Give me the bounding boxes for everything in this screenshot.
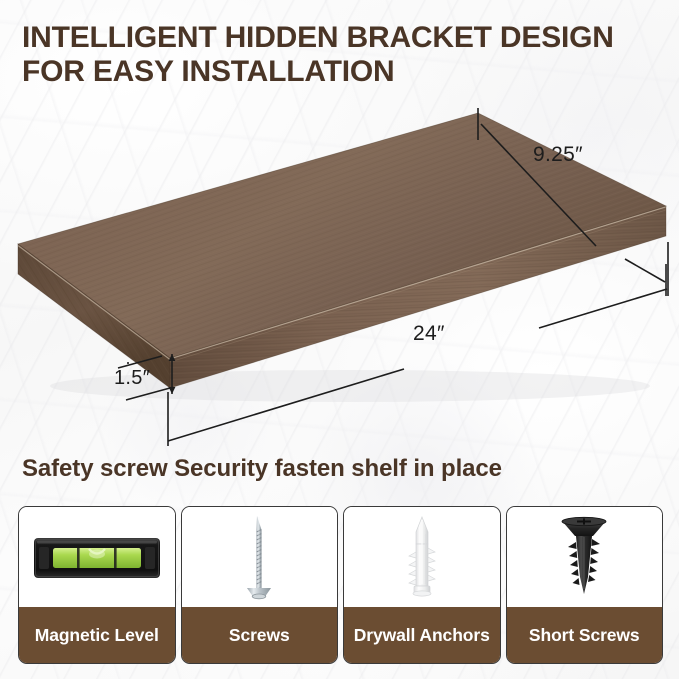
- product-infographic: INTELLIGENT HIDDEN BRACKET DESIGN FOR EA…: [0, 0, 679, 679]
- subheading-text: Safety screw Security fasten shelf in pl…: [22, 455, 672, 483]
- hardware-card-screws[interactable]: Screws: [181, 506, 339, 664]
- hardware-card-label: Short Screws: [507, 607, 663, 663]
- hardware-card-label: Screws: [182, 607, 338, 663]
- headline-text: INTELLIGENT HIDDEN BRACKET DESIGN FOR EA…: [22, 21, 672, 89]
- magnetic-level-icon: [19, 507, 175, 607]
- drywall-anchor-icon: [344, 507, 500, 607]
- hardware-card-drywall-anchors[interactable]: Drywall Anchors: [343, 506, 501, 664]
- screw-icon: [182, 507, 338, 607]
- dimension-depth-label: 9.25″: [533, 143, 583, 167]
- hardware-card-row: Magnetic Level: [18, 506, 663, 664]
- dimension-width-label: 24″: [413, 322, 445, 346]
- hardware-card-label: Magnetic Level: [19, 607, 175, 663]
- short-screw-icon: [507, 507, 663, 607]
- hardware-card-label: Drywall Anchors: [344, 607, 500, 663]
- hardware-card-magnetic-level[interactable]: Magnetic Level: [18, 506, 176, 664]
- dimension-thickness-label: 1.5″: [114, 367, 150, 390]
- hardware-card-short-screws[interactable]: Short Screws: [506, 506, 664, 664]
